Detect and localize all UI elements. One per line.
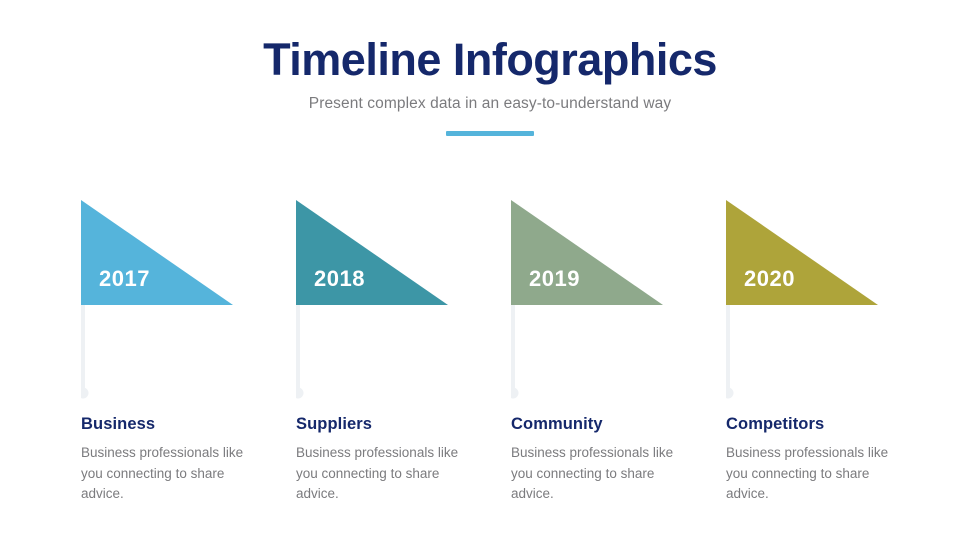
caption-body: Business professionals like you connecti… (726, 443, 906, 505)
flag-pole (81, 304, 85, 394)
flag-pole (511, 304, 515, 394)
caption-title: Suppliers (296, 415, 476, 434)
caption-body: Business professionals like you connecti… (511, 443, 691, 505)
timeline-milestone[interactable]: 2017 Business Business professionals lik… (81, 200, 281, 400)
header: Timeline Infographics Present complex da… (0, 36, 980, 136)
flag-icon (81, 200, 241, 400)
caption-title: Community (511, 415, 691, 434)
accent-divider (446, 131, 534, 136)
flag-pole (296, 304, 300, 394)
caption-body: Business professionals like you connecti… (296, 443, 476, 505)
flag-icon (296, 200, 456, 400)
flag-pole-base-dot (726, 388, 734, 399)
flag-pole-base-dot (511, 388, 519, 399)
timeline-milestone[interactable]: 2020 Competitors Business professionals … (726, 200, 926, 400)
milestone-caption: Competitors Business professionals like … (726, 415, 906, 505)
infographic-slide: Timeline Infographics Present complex da… (0, 0, 980, 551)
milestone-year: 2018 (314, 268, 365, 290)
timeline-track: 2017 Business Business professionals lik… (81, 200, 961, 520)
milestone-caption: Community Business professionals like yo… (511, 415, 691, 505)
flag-pole-base-dot (81, 388, 89, 399)
flag-marker[interactable]: 2018 (296, 200, 456, 400)
flag-icon (726, 200, 886, 400)
caption-title: Business (81, 415, 261, 434)
milestone-caption: Business Business professionals like you… (81, 415, 261, 505)
flag-icon (511, 200, 671, 400)
timeline-milestone[interactable]: 2018 Suppliers Business professionals li… (296, 200, 496, 400)
page-title: Timeline Infographics (0, 36, 980, 83)
flag-pole (726, 304, 730, 394)
flag-marker[interactable]: 2017 (81, 200, 241, 400)
caption-body: Business professionals like you connecti… (81, 443, 261, 505)
flag-marker[interactable]: 2019 (511, 200, 671, 400)
caption-title: Competitors (726, 415, 906, 434)
flag-pole-base-dot (296, 388, 304, 399)
flag-marker[interactable]: 2020 (726, 200, 886, 400)
milestone-year: 2019 (529, 268, 580, 290)
milestone-year: 2020 (744, 268, 795, 290)
page-subtitle: Present complex data in an easy-to-under… (0, 95, 980, 113)
milestone-caption: Suppliers Business professionals like yo… (296, 415, 476, 505)
timeline-milestone[interactable]: 2019 Community Business professionals li… (511, 200, 711, 400)
milestone-year: 2017 (99, 268, 150, 290)
